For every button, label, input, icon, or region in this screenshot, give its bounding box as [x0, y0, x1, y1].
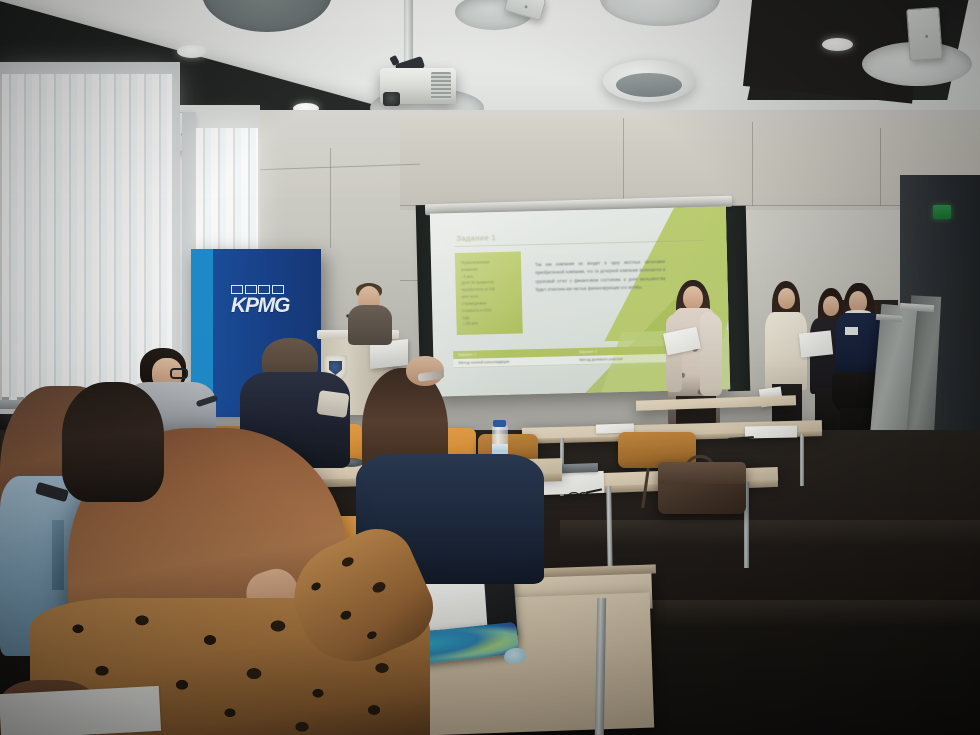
presenter-head [683, 286, 703, 310]
downlight-3 [822, 38, 853, 51]
eyeglasses-seated-man [170, 368, 188, 379]
panel-seam-v2 [752, 122, 753, 206]
kpmg-logo: KPMG [231, 285, 299, 316]
projector-lens [383, 92, 400, 106]
wall-speaker-2 [906, 7, 943, 61]
standing-student-2-head [823, 296, 839, 316]
presenter-cardigan-right [700, 312, 722, 396]
standing-student-3-name-badge [845, 327, 858, 335]
standing-student-1-head [778, 288, 795, 309]
floor-step-2 [600, 600, 980, 626]
slide-body-text: Так как компания не входит в одну местны… [535, 258, 666, 295]
slide-green-callout-box: Первоначальные вложения - 5 млн Доля 30 … [455, 251, 523, 335]
kpmg-squares-icon [231, 285, 299, 294]
slide-paragraph: Так как компания не входит в одну местны… [535, 258, 666, 295]
projector-mount-pole [404, 0, 413, 68]
denim-placket [52, 520, 64, 590]
seated-person-darkhair [62, 382, 164, 502]
slide-callout-line: - 150 млн [462, 320, 516, 328]
panel-seam-v5 [330, 148, 331, 248]
podium-speaker-body [348, 305, 392, 345]
classroom-photo-scene: Задание 1 Первоначальные вложения - 5 мл… [0, 0, 980, 735]
floor-step-1 [560, 520, 980, 546]
handbag-flap [658, 462, 746, 484]
panel-seam-v1 [623, 118, 624, 206]
desk-row4-leg-2 [800, 434, 804, 486]
kpmg-wordmark: KPMG [231, 295, 299, 316]
slide-cell-1: Метод полной консолидации [453, 358, 574, 365]
standing-student-3-papers [799, 330, 833, 357]
panel-seam-v3 [880, 128, 881, 206]
seated-man-suit-papers [316, 390, 349, 418]
paper-front-desk [0, 686, 161, 735]
water-bottle-1-cap [493, 420, 506, 427]
exit-sign-icon [933, 205, 951, 219]
slide-title: Задание 1 [456, 233, 496, 243]
ceiling-speaker-icon [603, 60, 695, 102]
projector-vent [431, 72, 451, 99]
downlight-1 [177, 45, 207, 58]
